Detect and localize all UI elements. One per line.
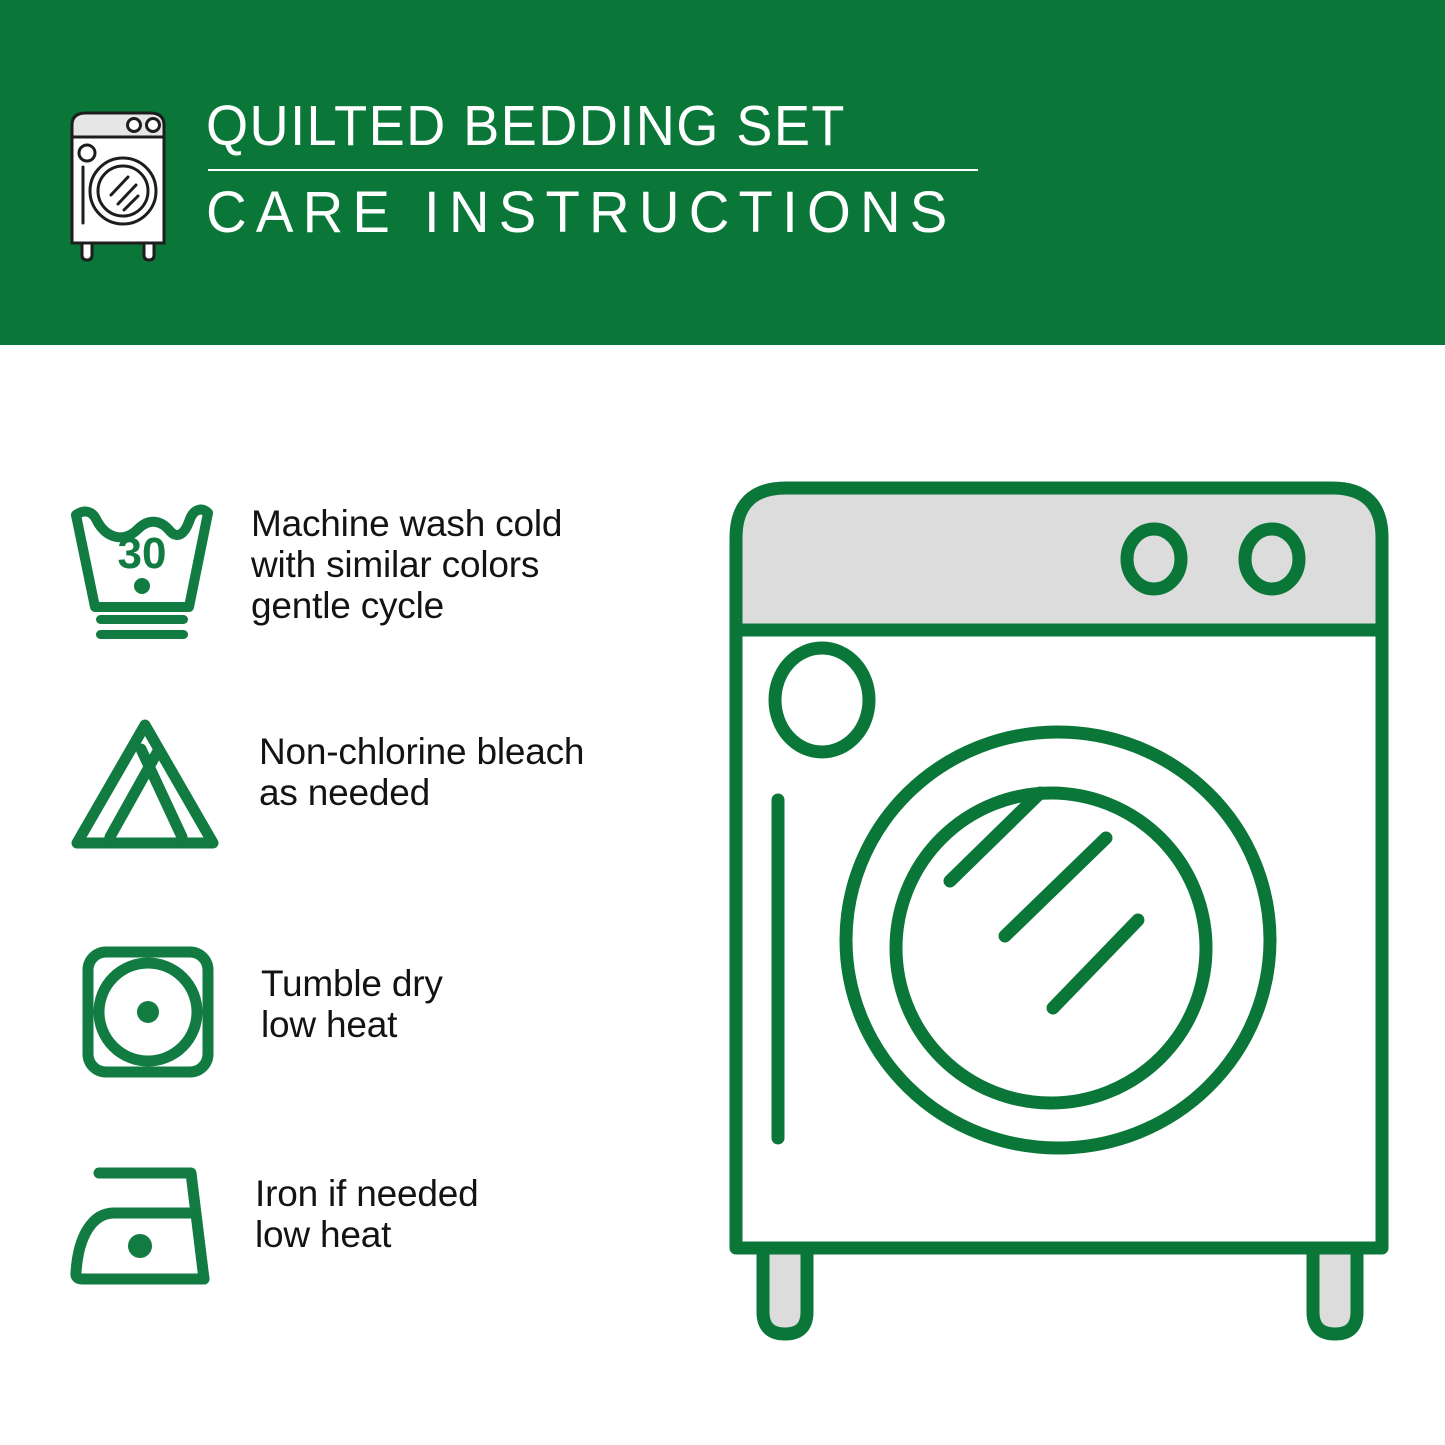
care-label-tumble-dry: Tumble dry low heat (261, 937, 443, 1045)
iron-low-heat-icon (66, 1151, 231, 1301)
care-label-line: gentle cycle (251, 585, 562, 626)
machine-leg-left (763, 1248, 807, 1334)
washing-machine-icon (58, 103, 178, 263)
page-title: QUILTED BEDDING SET (206, 95, 941, 158)
front-load-washing-machine-illustration (718, 470, 1418, 1360)
care-label-line: Tumble dry (261, 963, 443, 1004)
care-label-iron: Iron if needed low heat (255, 1145, 478, 1255)
machine-knob-2 (1245, 529, 1299, 589)
care-row-machine-wash: 30 Machine wash cold with similar colors… (62, 493, 692, 643)
care-label-line: Machine wash cold (251, 503, 562, 544)
triangle-non-chlorine-bleach-icon (70, 709, 235, 859)
care-label-line: Iron if needed (255, 1173, 478, 1214)
care-instruction-list: 30 Machine wash cold with similar colors… (0, 345, 700, 1445)
care-row-tumble-dry: Tumble dry low heat (62, 937, 692, 1087)
care-label-machine-wash: Machine wash cold with similar colors ge… (251, 493, 562, 626)
page-subtitle: CARE INSTRUCTIONS (206, 180, 957, 246)
machine-knob-1 (1127, 529, 1181, 589)
care-label-bleach: Non-chlorine bleach as needed (259, 705, 584, 813)
tumble-dry-low-heat-icon (72, 937, 237, 1087)
care-row-bleach: Non-chlorine bleach as needed (62, 705, 692, 859)
title-divider (208, 169, 978, 171)
header-content: QUILTED BEDDING SET CARE INSTRUCTIONS (58, 95, 980, 263)
header-banner: QUILTED BEDDING SET CARE INSTRUCTIONS (0, 0, 1445, 345)
care-label-line: low heat (255, 1214, 478, 1255)
care-label-line: as needed (259, 772, 584, 813)
machine-door-inner-ring (896, 793, 1206, 1103)
machine-leg-right (1313, 1248, 1357, 1334)
machine-indicator-circle (775, 648, 869, 752)
wash-tub-30-gentle-icon: 30 (62, 493, 227, 643)
care-row-iron: Iron if needed low heat (62, 1145, 692, 1301)
care-label-line: low heat (261, 1004, 443, 1045)
header-titles: QUILTED BEDDING SET CARE INSTRUCTIONS (206, 95, 980, 246)
care-instructions-page: QUILTED BEDDING SET CARE INSTRUCTIONS 30 (0, 0, 1445, 1445)
wash-temperature-label: 30 (118, 529, 167, 578)
care-label-line: with similar colors (251, 544, 562, 585)
care-label-line: Non-chlorine bleach (259, 731, 584, 772)
